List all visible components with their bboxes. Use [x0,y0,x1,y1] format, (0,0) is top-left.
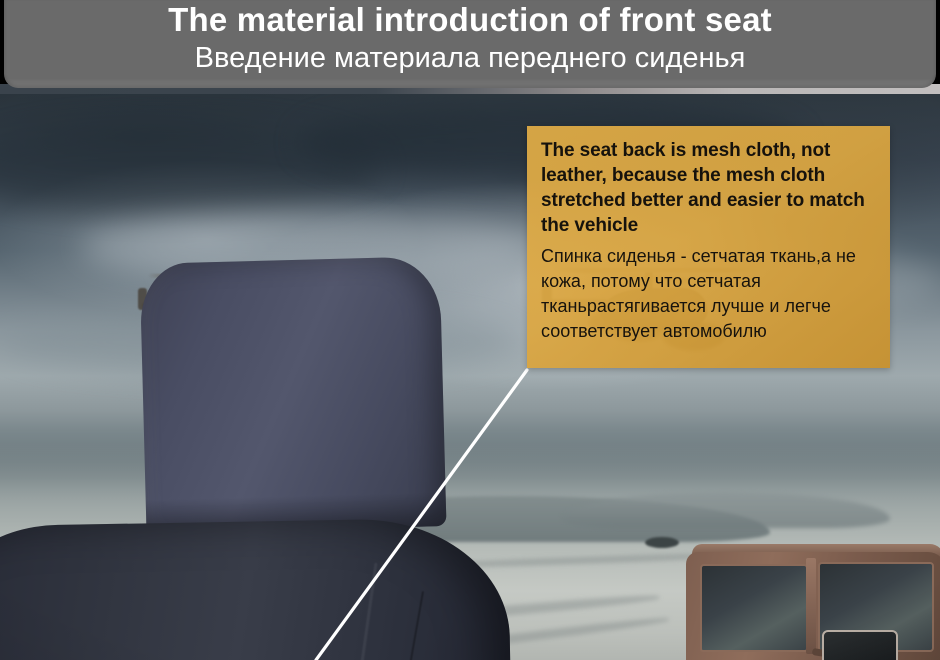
product-banner: The material introduction of front seat … [0,0,940,660]
jeep-vehicle [686,538,940,660]
header-banner: The material introduction of front seat … [4,0,936,88]
ground-rock [645,537,679,548]
header-sheen [4,78,936,88]
callout-text-english: The seat back is mesh cloth, not leather… [541,138,876,238]
seat-backrest [0,517,512,660]
seat-headrest [140,256,447,534]
page-title-english: The material introduction of front seat [4,0,936,42]
callout-box: The seat back is mesh cloth, not leather… [527,126,890,368]
callout-text-russian: Спинка сиденья - сетчатая ткань,а не кож… [541,244,876,344]
jeep-rear-window [700,564,808,652]
jeep-side-mirror [822,630,898,660]
page-title-russian: Введение материала переднего сиденья [4,38,936,78]
jeep-door-pillar [806,558,816,654]
